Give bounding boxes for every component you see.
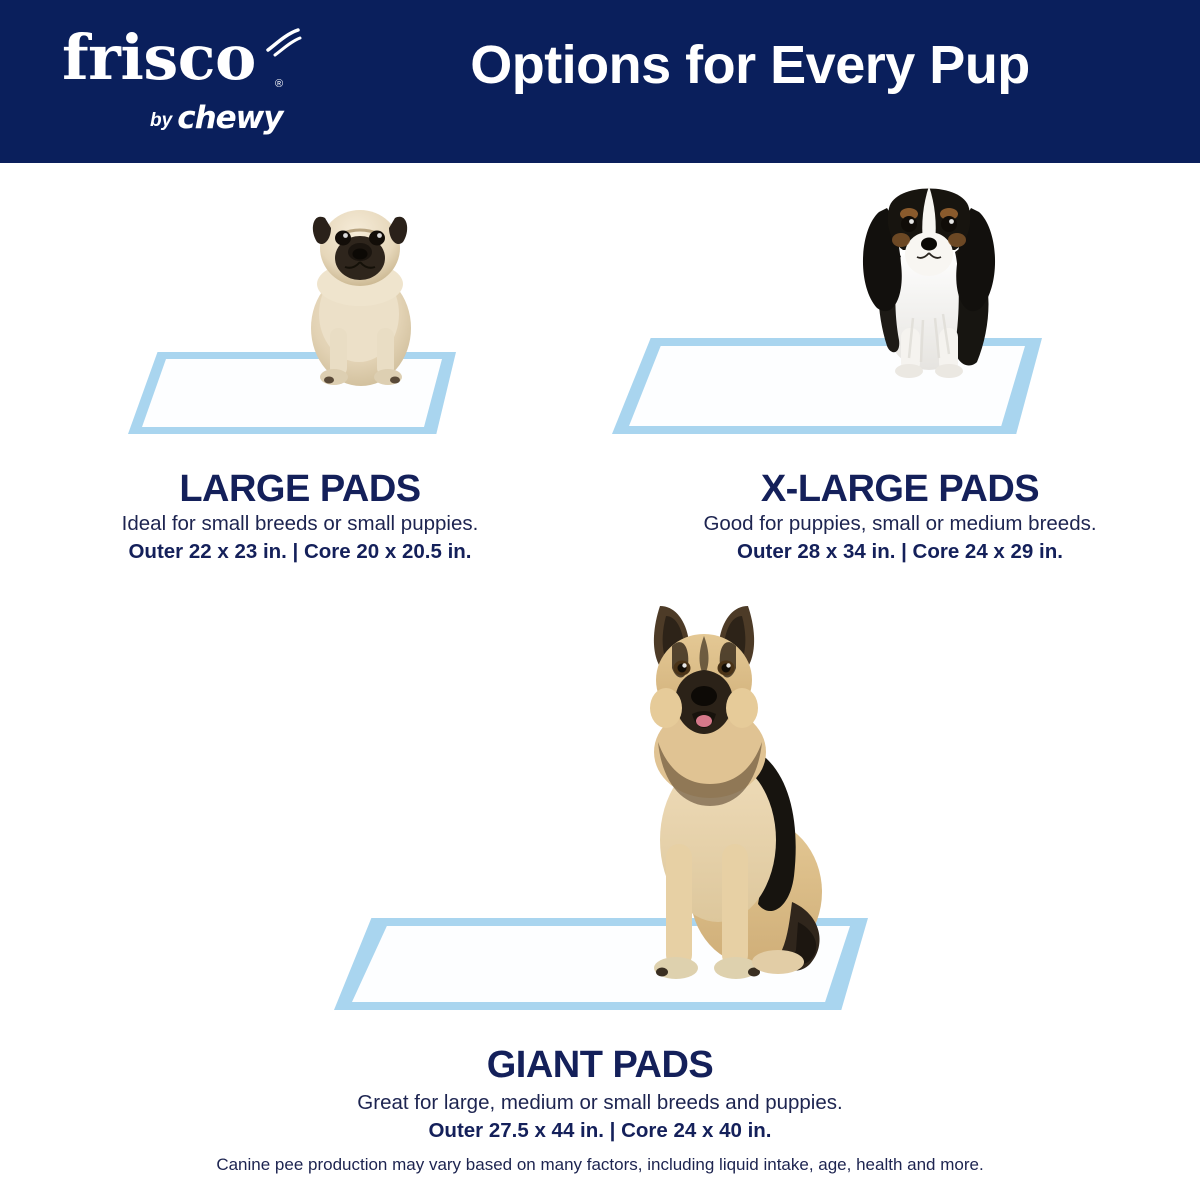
product-description-giant: Great for large, medium or small breeds … — [0, 1091, 1200, 1115]
product-title-giant: GIANT PADS — [0, 1044, 1200, 1087]
dog-photo-cavalier-king-charles-spaniel — [843, 168, 1015, 380]
dog-photo-german-shepherd — [606, 592, 850, 984]
product-dimensions-large: Outer 22 x 23 in. | Core 20 x 20.5 in. — [0, 540, 600, 564]
product-dimensions-xlarge: Outer 28 x 34 in. | Core 24 x 29 in. — [600, 540, 1200, 564]
infographic-page: frisco ® bychewy Options for Every Pup — [0, 0, 1200, 1200]
product-description-large: Ideal for small breeds or small puppies. — [0, 512, 600, 536]
registered-trademark-icon: ® — [275, 78, 283, 90]
dog-photo-pug — [283, 196, 439, 392]
product-description-xlarge: Good for puppies, small or medium breeds… — [600, 512, 1200, 536]
footnote-disclaimer: Canine pee production may vary based on … — [0, 1155, 1200, 1175]
chewy-wordmark: chewy — [177, 100, 282, 136]
logo-subline: bychewy — [150, 100, 283, 136]
product-dimensions-giant: Outer 27.5 x 44 in. | Core 24 x 40 in. — [0, 1119, 1200, 1143]
header-banner: frisco ® bychewy Options for Every Pup — [0, 0, 1200, 163]
product-title-xlarge: X-LARGE PADS — [600, 468, 1200, 511]
logo-by-label: by — [150, 110, 172, 131]
page-title: Options for Every Pup — [330, 34, 1170, 96]
frisco-logo: frisco ® bychewy — [62, 22, 302, 142]
logo-swoosh-icon — [262, 28, 302, 58]
product-title-large: LARGE PADS — [0, 468, 600, 511]
